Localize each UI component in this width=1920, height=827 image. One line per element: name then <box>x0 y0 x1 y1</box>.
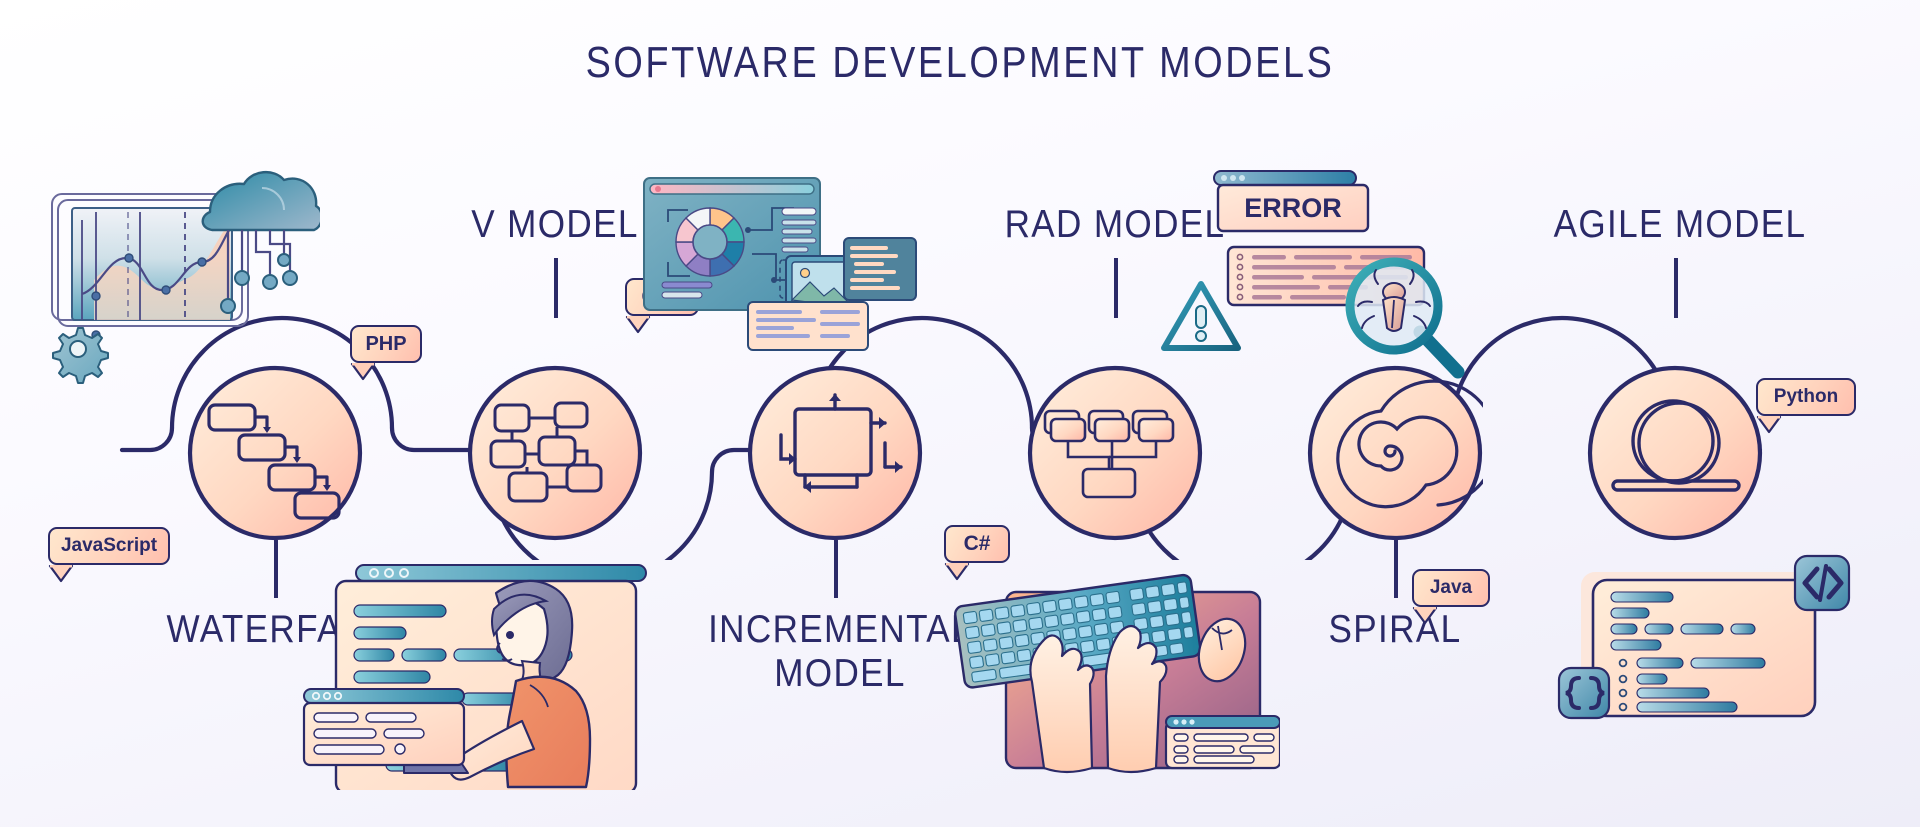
stem-incremental <box>831 540 841 598</box>
stage-label-incremental-line2: MODEL <box>678 652 1002 696</box>
cloud-analytics-illustration <box>30 160 320 390</box>
infographic-canvas: SOFTWARE DEVELOPMENT MODELS <box>0 0 1920 827</box>
page-title: SOFTWARE DEVELOPMENT MODELS <box>134 38 1785 88</box>
cascading-boxes-icon <box>209 405 339 518</box>
developer-illustration <box>300 545 700 790</box>
lang-tag-css-label: CSS <box>625 278 699 316</box>
loop-circle-icon <box>1613 401 1739 490</box>
lang-tag-css[interactable]: CSS <box>625 278 699 339</box>
stem-spiral <box>1391 540 1401 598</box>
lang-tag-php[interactable]: PHP <box>350 325 422 386</box>
lang-tag-javascript[interactable]: JavaScript <box>48 527 170 588</box>
lang-tag-php-pointer <box>350 363 376 381</box>
lang-tag-javascript-pointer <box>48 565 74 583</box>
stem-rad <box>1111 258 1121 318</box>
cycle-arrows-icon <box>781 394 902 493</box>
stem-waterfall <box>271 540 281 598</box>
warning-triangle-icon <box>1160 278 1242 354</box>
bug-magnifier-icon <box>1338 250 1478 390</box>
stage-label-incremental: INCREMENTAL MODEL <box>678 608 1002 695</box>
stage-label-rad: RAD MODEL <box>971 205 1259 246</box>
lang-tag-python-label: Python <box>1756 378 1856 416</box>
stage-circle-agile[interactable] <box>1587 365 1763 541</box>
lang-tag-csharp-label: C# <box>944 525 1010 563</box>
spiral-icon <box>1338 381 1483 507</box>
stage-circle-waterfall[interactable] <box>187 365 363 541</box>
stem-agile <box>1671 258 1681 318</box>
stem-v-model <box>551 258 561 318</box>
lang-tag-java-pointer <box>1412 607 1438 625</box>
stacked-boxes-icon <box>1045 411 1173 497</box>
stage-circle-v-model[interactable] <box>467 365 643 541</box>
lang-tag-java-label: Java <box>1412 569 1490 607</box>
lang-tag-css-pointer <box>625 316 651 334</box>
models-flow-diagram <box>0 300 1920 560</box>
lang-tag-javascript-label: JavaScript <box>48 527 170 565</box>
lang-tag-csharp-pointer <box>944 563 970 581</box>
lang-tag-java[interactable]: Java <box>1412 569 1490 630</box>
stage-circle-rad[interactable] <box>1027 365 1203 541</box>
stage-circle-incremental[interactable] <box>747 365 923 541</box>
lang-tag-python[interactable]: Python <box>1756 378 1856 439</box>
stage-label-incremental-line1: INCREMENTAL <box>678 608 1002 652</box>
stage-label-spiral: SPIRAL <box>1251 610 1539 651</box>
stage-label-v-model: V MODEL <box>411 205 699 246</box>
stage-label-waterfall: WATERFALL <box>131 610 419 651</box>
stage-circle-spiral[interactable] <box>1307 365 1483 541</box>
braces-badge <box>1559 668 1609 718</box>
stage-label-agile: AGILE MODEL <box>1527 205 1833 246</box>
error-dialog-illustration: ERROR <box>1190 165 1460 355</box>
code-panel-illustration <box>1555 550 1875 735</box>
lang-tag-csharp[interactable]: C# <box>944 525 1010 586</box>
lang-tag-python-pointer <box>1756 416 1782 434</box>
lang-tag-php-label: PHP <box>350 325 422 363</box>
node-tree-icon <box>491 403 601 501</box>
chat-window-illustration <box>300 685 470 769</box>
code-tag-badge <box>1795 556 1849 610</box>
